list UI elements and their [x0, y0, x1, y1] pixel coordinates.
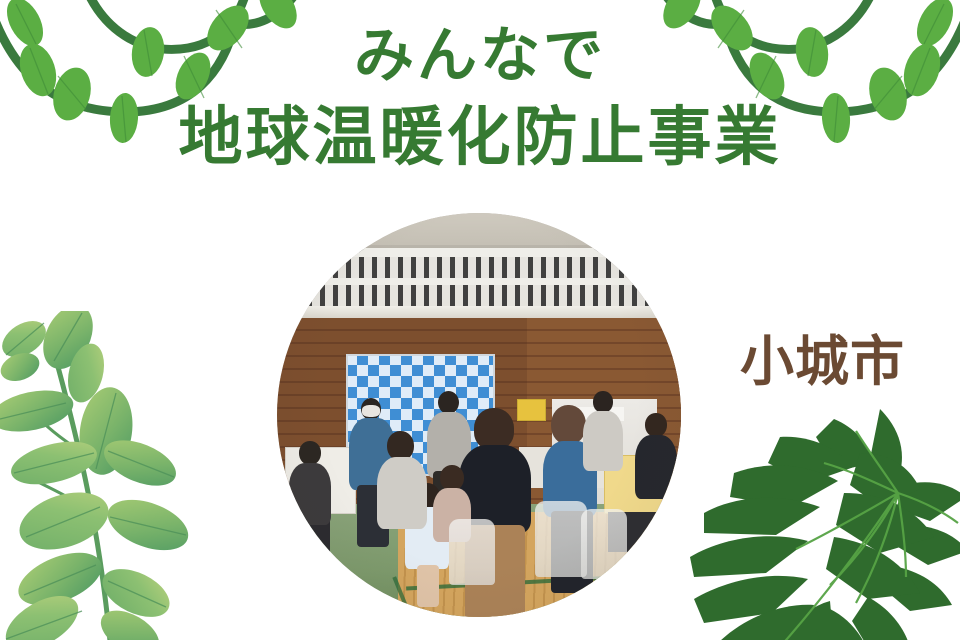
- event-photo-scene: [277, 213, 681, 617]
- title-line-2: 地球温暖化防止事業: [0, 106, 960, 170]
- monstera-leaf-decoration: [684, 397, 960, 640]
- title-line-1: みんなで: [0, 26, 960, 86]
- watercolor-branch-decoration: [0, 311, 260, 640]
- photo-vignette: [277, 213, 681, 617]
- city-name-label: 小城市: [740, 334, 905, 391]
- event-photo-circle: [277, 213, 681, 617]
- poster-title: みんなで 地球温暖化防止事業: [0, 26, 960, 170]
- poster-canvas: みんなで 地球温暖化防止事業 小城市: [0, 0, 960, 640]
